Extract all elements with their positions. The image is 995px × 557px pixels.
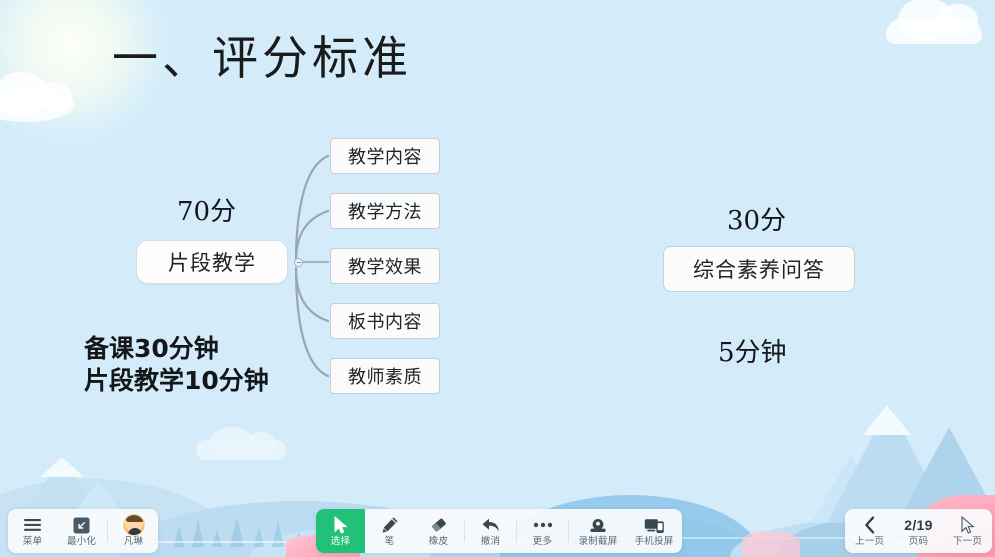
tool-more-label: 更多: [533, 537, 552, 547]
right-topic-node[interactable]: 综合素养问答: [663, 246, 855, 292]
left-duration-line-1: 备课30分钟: [84, 333, 269, 365]
tool-undo[interactable]: 撤消: [466, 509, 515, 553]
cloud-decoration-left: [0, 88, 74, 122]
tool-select[interactable]: 选择: [316, 509, 365, 553]
page-navigation-toolbar: 上一页 2/19 页码 下一页: [845, 509, 992, 553]
tool-pen-label: 笔: [385, 537, 395, 547]
pink-accent-center: [742, 531, 800, 557]
tool-record-capture[interactable]: 录制截屏: [570, 509, 626, 553]
tool-eraser-label: 橡皮: [429, 537, 448, 547]
pen-icon: [381, 516, 399, 535]
page-indicator[interactable]: 2/19 页码: [894, 509, 943, 553]
menu-button[interactable]: 菜单: [8, 509, 57, 553]
tree-line-decoration: [168, 513, 338, 547]
mindmap-leaf-node[interactable]: 教师素质: [330, 358, 440, 394]
menu-button-label: 菜单: [23, 537, 42, 547]
tool-select-label: 选择: [331, 537, 350, 547]
right-score-label: 30分: [727, 200, 786, 237]
cloud-decoration-bottom: [196, 440, 286, 460]
mountain-peak-right-1: [827, 405, 951, 523]
tool-pen[interactable]: 笔: [365, 509, 414, 553]
eraser-icon: [430, 516, 448, 535]
tool-more[interactable]: 更多: [518, 509, 567, 553]
mindmap-root-node[interactable]: 片段教学: [136, 240, 288, 284]
ellipsis-more-icon: [533, 516, 553, 535]
hamburger-menu-icon: [23, 516, 42, 535]
cloud-decoration-right: [886, 18, 982, 44]
phone-cast-icon: [644, 516, 665, 535]
page-indicator-label: 页码: [909, 537, 928, 547]
snow-cap-left: [40, 457, 84, 477]
tool-phone-cast-label: 手机投屏: [635, 537, 674, 547]
page-indicator-value: 2/19: [904, 516, 932, 535]
user-avatar-icon: [123, 516, 145, 535]
mindmap-leaf-node[interactable]: 板书内容: [330, 303, 440, 339]
presentation-stage: 一、评分标准 70分 30分 片段教学 教学内容 教学方法 教学效果 板书内容 …: [0, 0, 995, 557]
mindmap-collapse-toggle[interactable]: [294, 258, 303, 267]
mindmap-leaf-node[interactable]: 教学内容: [330, 138, 440, 174]
chevron-left-icon: [864, 516, 876, 535]
snow-cap-right: [863, 405, 911, 435]
record-capture-icon: [588, 516, 608, 535]
minimize-button-label: 最小化: [67, 537, 96, 547]
mindmap-leaf-node[interactable]: 教学效果: [330, 248, 440, 284]
left-duration-line-2: 片段教学10分钟: [84, 365, 269, 397]
minimize-button[interactable]: 最小化: [57, 509, 106, 553]
tool-undo-label: 撤消: [481, 537, 500, 547]
slide-title: 一、评分标准: [112, 22, 412, 88]
toolbar-divider: [464, 520, 465, 542]
tool-eraser[interactable]: 橡皮: [414, 509, 463, 553]
toolbar-divider: [107, 520, 108, 542]
annotation-toolbar: 选择 笔 橡皮: [316, 509, 682, 553]
tool-record-capture-label: 录制截屏: [579, 537, 618, 547]
next-page-label: 下一页: [953, 537, 982, 547]
previous-page-label: 上一页: [855, 537, 884, 547]
user-account-button[interactable]: 凡琳: [109, 509, 158, 553]
user-account-label: 凡琳: [124, 537, 143, 547]
right-duration-label: 5分钟: [718, 332, 787, 369]
toolbar-divider: [516, 520, 517, 542]
avatar: [123, 514, 145, 536]
next-page-button[interactable]: 下一页: [943, 509, 992, 553]
toolbar-divider: [568, 520, 569, 542]
left-toolbar: 菜单 最小化 凡琳: [8, 509, 158, 553]
cursor-arrow-icon: [960, 516, 975, 535]
mindmap-leaf-node[interactable]: 教学方法: [330, 193, 440, 229]
cursor-select-icon: [333, 516, 348, 535]
left-duration-block: 备课30分钟 片段教学10分钟: [84, 333, 269, 397]
tool-phone-cast[interactable]: 手机投屏: [626, 509, 682, 553]
minimize-icon: [73, 516, 90, 535]
previous-page-button[interactable]: 上一页: [845, 509, 894, 553]
undo-arrow-icon: [481, 516, 500, 535]
